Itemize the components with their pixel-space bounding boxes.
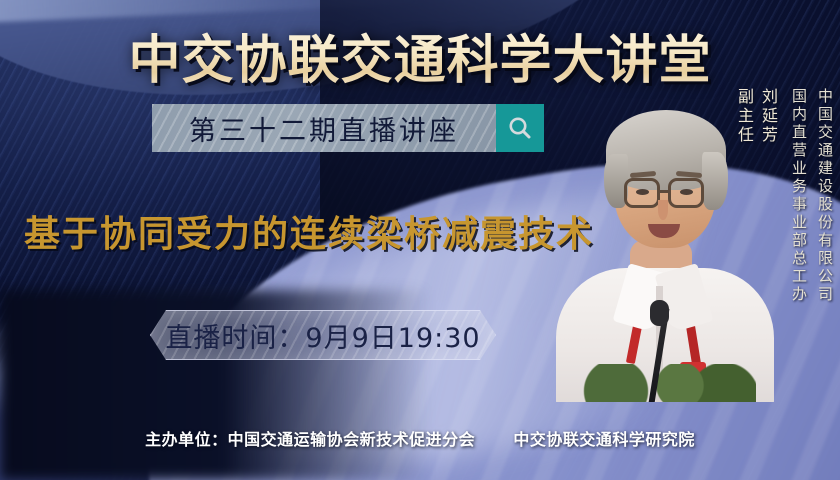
broadcast-time-badge: 直播时间：9月9日19:30 xyxy=(150,310,496,360)
speaker-hair-side-right xyxy=(702,152,728,210)
subtitle-bar: 第三十二期直播讲座 xyxy=(152,104,544,152)
speaker-position: 副主任 xyxy=(732,88,756,145)
subtitle-bar-background: 第三十二期直播讲座 xyxy=(152,104,496,152)
speaker-department: 国内直营业务事业部总工办 xyxy=(784,88,810,304)
lecture-title: 基于协同受力的连续梁桥减震技术 xyxy=(24,205,594,257)
organizer-secondary: 中交协联交通科学研究院 xyxy=(513,430,695,449)
microphone-right-head xyxy=(650,300,669,326)
speaker-name-column: 刘延芳 副主任 xyxy=(752,88,780,145)
eyeglasses-bridge xyxy=(660,190,670,193)
subtitle-label: 第三十二期直播讲座 xyxy=(189,109,459,148)
speaker-credits: 刘延芳 副主任 国内直营业务事业部总工办 中国交通建设股份有限公司 xyxy=(752,88,836,304)
search-button[interactable] xyxy=(496,104,544,152)
speaker-nose xyxy=(658,200,668,220)
eyeglasses-lens-left xyxy=(624,178,660,208)
eyeglasses-lens-right xyxy=(668,178,704,208)
poster-root: 中交协联交通科学大讲堂 第三十二期直播讲座 基于协同受力的连续梁桥减震技术 直播… xyxy=(0,0,840,480)
broadcast-time-label: 直播时间：9月9日19:30 xyxy=(165,316,480,355)
organizer-primary: 主办单位：中国交通运输协会新技术促进分会 xyxy=(145,430,475,449)
main-title: 中交协联交通科学大讲堂 xyxy=(0,18,840,93)
search-icon xyxy=(507,115,533,141)
speaker-name: 刘延芳 xyxy=(756,88,780,145)
footer-organizers: 主办单位：中国交通运输协会新技术促进分会 中交协联交通科学研究院 xyxy=(0,426,840,450)
speaker-company: 中国交通建设股份有限公司 xyxy=(810,88,836,304)
